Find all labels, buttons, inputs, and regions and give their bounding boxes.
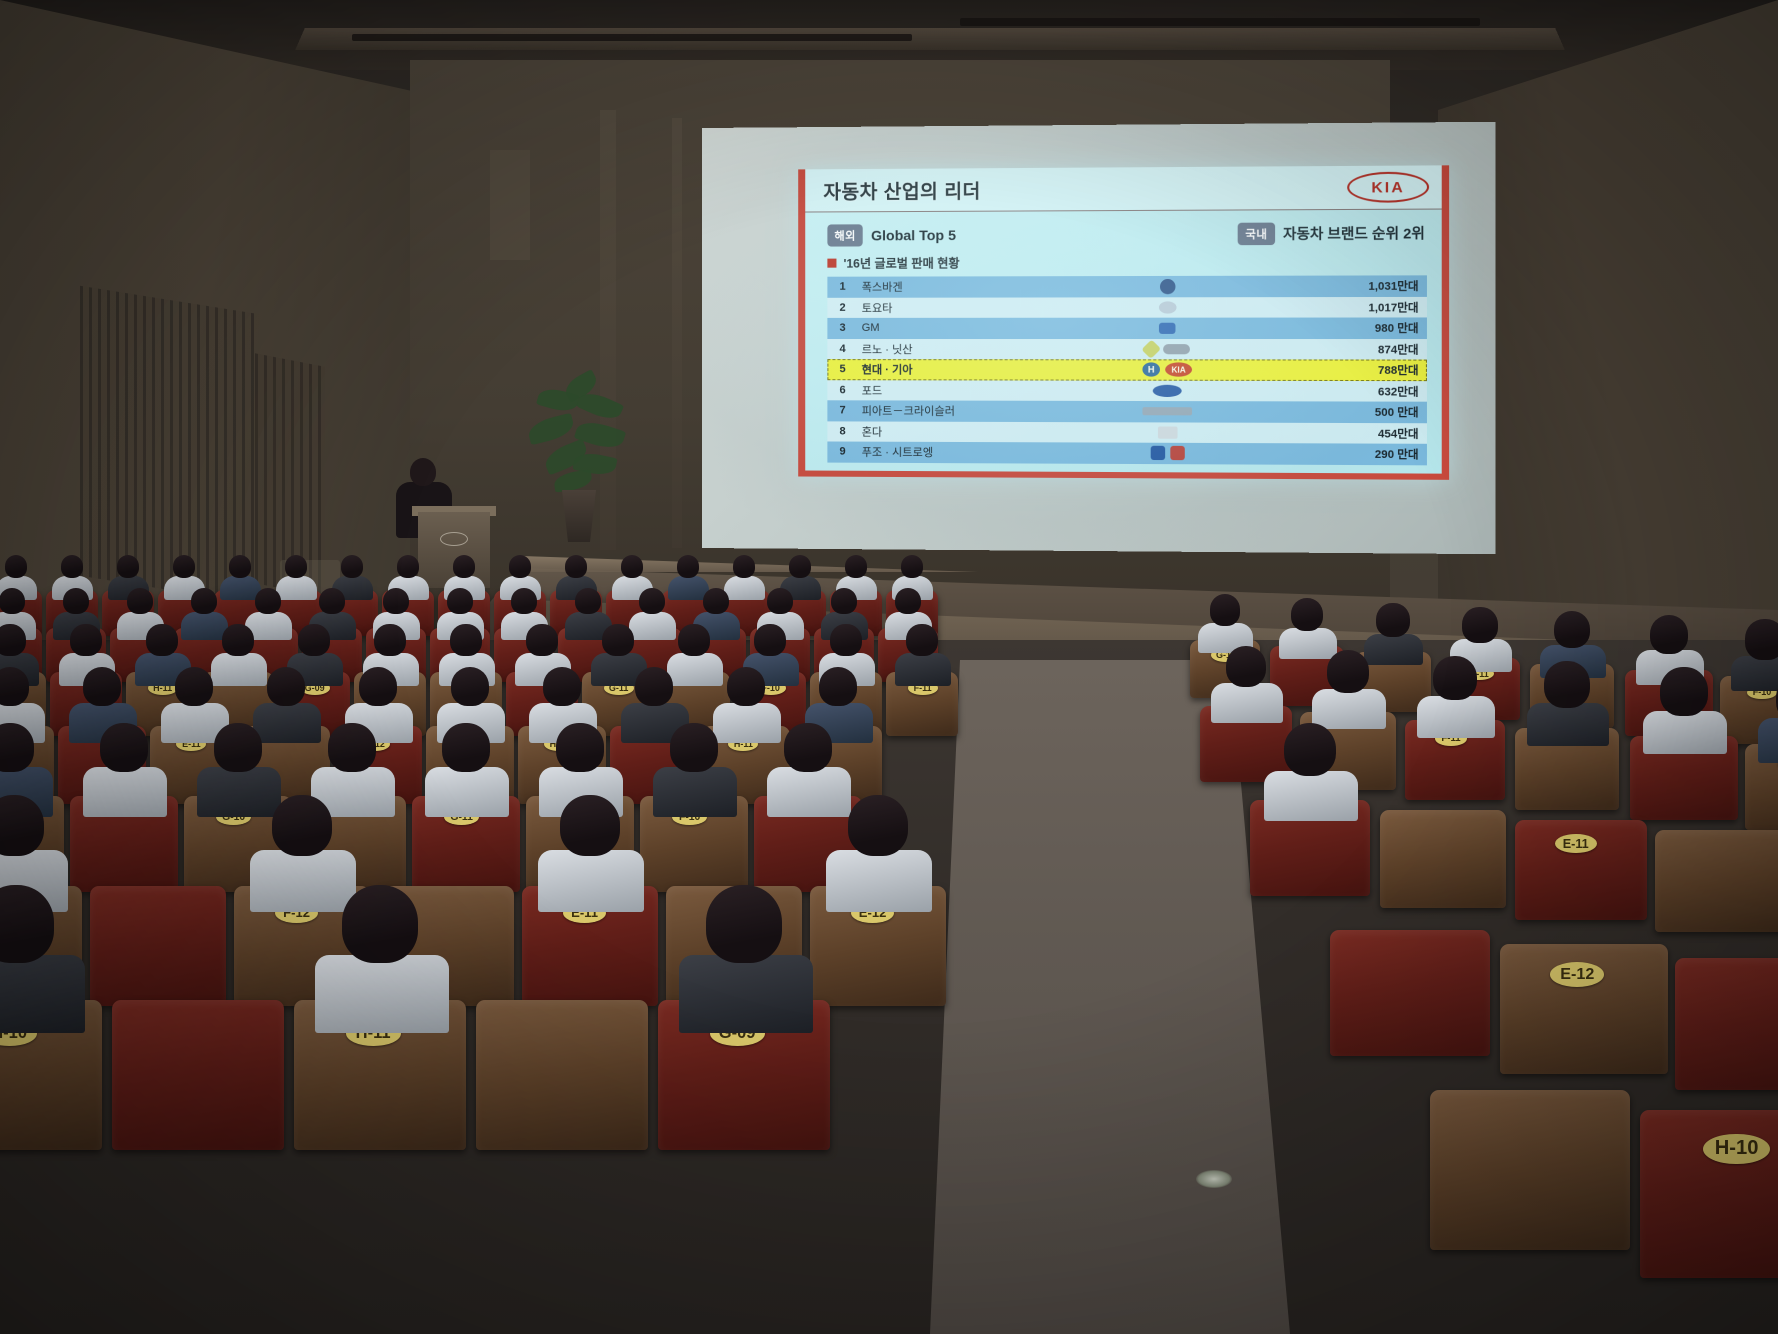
cell-rank: 5 [827,363,857,375]
table-row: 9푸조 · 시트로엥290 만대 [827,441,1427,464]
peugeot-citroen-logo [1150,446,1164,460]
audience-member-shoulders [629,612,676,640]
audience-member-head [1226,646,1266,687]
audience-member-shoulders [425,767,509,817]
audience-member-shoulders [250,850,356,912]
audience-member-shoulders [724,576,765,600]
audience-member-shoulders [1527,703,1608,746]
audience-member-head [173,555,196,578]
bullet-square-icon [827,259,836,268]
overseas-section: 해외 Global Top 5 [827,224,956,247]
audience-member-shoulders [1364,634,1423,665]
audience-member-head [267,667,306,706]
audience-member-head [214,723,262,771]
cell-toyota-logo [1014,301,1322,314]
audience-member-head [602,624,634,656]
audience-member-head [784,723,832,771]
table-row: 5현대 · 기아HKIA788만대 [827,359,1427,381]
cell-rank: 1 [827,281,857,293]
table-row: 7피아트－크라이슬러500 만대 [827,400,1427,422]
cell-peugeot-citroen-logo [1014,445,1322,461]
audience-member-shoulders [197,767,281,817]
audience-member-shoulders [211,653,267,686]
audience-member-head [901,555,924,578]
audience-member-head [1327,650,1369,693]
audience-member-shoulders [895,653,951,686]
overseas-label: Global Top 5 [871,227,956,243]
table-row: 8혼다454만대 [827,421,1427,444]
audience-member-head [451,667,490,706]
cell-sales-value: 454만대 [1322,425,1427,442]
audience-member-head [556,723,604,771]
audience-member-shoulders [1643,711,1727,755]
cell-sales-value: 500 만대 [1322,404,1427,421]
auditorium-seat[interactable] [112,1000,284,1150]
global-sales-table: 1폭스바겐1,031만대2토요타1,017만대3GM980 만대4르노 · 닛산… [827,275,1427,464]
audience-member-head [526,624,558,656]
cell-brand-name: 푸조 · 시트로엥 [858,444,1014,461]
audience-member-shoulders [1758,718,1778,763]
audience-member-head [621,555,644,578]
renault-nissan-logo [1163,344,1190,354]
audience-member-head [733,555,756,578]
audience-member-shoulders [181,612,228,640]
audience-member-head [5,555,28,578]
peugeot-citroen-logo [1170,446,1184,460]
cell-rank: 3 [827,322,857,334]
audience-member-head [511,588,537,615]
presenter-head [410,458,436,486]
volkswagen-logo [1159,279,1175,294]
cell-ford-logo [1014,384,1322,397]
cell-brand-name: 현대 · 기아 [858,361,1014,377]
audience-member-head [117,555,140,578]
audience-member-shoulders [1264,771,1358,821]
audience-member-head [229,555,252,578]
cell-fca-logo [1014,407,1322,416]
audience-member-head [635,667,674,706]
hyundai-kia-logo: KIA [1165,363,1192,377]
projected-slide: 자동차 산업의 리더 KIA 해외 Global Top 5 국내 자동차 브랜… [798,165,1449,480]
cell-brand-name: 피아트－크라이슬러 [858,403,1014,420]
cell-honda-logo [1014,426,1322,439]
audience-member-head [906,624,938,656]
cell-renault-nissan-logo [1014,342,1322,356]
cell-hyundai-kia-logo: HKIA [1014,363,1322,378]
audience-member-head [272,795,332,856]
auditorium-seat[interactable] [1430,1090,1630,1250]
cell-sales-value: 290 만대 [1322,446,1427,463]
audience-member-head [447,588,473,615]
table-heading-row: '16년 글로벌 판매 현황 [805,251,1441,275]
audience-member-head [61,555,84,578]
cell-sales-value: 1,031만대 [1322,278,1427,295]
potted-plant [520,372,640,500]
audience-member-head [1660,667,1708,715]
table-row: 4르노 · 닛산874만대 [827,339,1427,360]
aisle-floor-light [1196,1170,1232,1188]
audience-member-shoulders [713,703,782,744]
cell-sales-value: 874만대 [1322,341,1427,357]
cell-volkswagen-logo [1014,278,1322,294]
audience-member-head [319,588,345,615]
audience-member-shoulders [538,850,644,912]
audience-member-head [575,588,601,615]
audience-member-shoulders [679,955,813,1033]
cell-brand-name: 토요타 [858,299,1014,315]
cell-brand-name: GM [858,322,1014,334]
audience-member-shoulders [1731,656,1778,691]
auditorium-seat[interactable] [1330,930,1490,1056]
domestic-badge: 국내 [1238,223,1275,246]
audience-member-head [639,588,665,615]
gm-logo [1159,322,1176,333]
audience-member-shoulders [1211,683,1283,723]
audience-member-shoulders [767,767,851,817]
cell-brand-name: 혼다 [858,423,1014,440]
auditorium-photo: 자동차 산업의 리더 KIA 해외 Global Top 5 국내 자동차 브랜… [0,0,1778,1334]
domestic-label: 자동차 브랜드 순위 2위 [1283,223,1425,244]
audience-member-head [127,588,153,615]
audience-member-head [845,555,868,578]
table-heading: '16년 글로벌 판매 현황 [844,254,960,271]
audience-member-head [341,555,364,578]
audience-member-head [100,723,148,771]
audience-member-head [70,624,102,656]
audience-member-head [146,624,178,656]
ceiling-slot [960,18,1480,26]
wall-door-frame [490,150,530,260]
audience-member-shoulders [1417,696,1495,738]
audience-member-head [255,588,281,615]
audience-member-head [222,624,254,656]
cell-brand-name: 폭스바겐 [858,279,1014,295]
auditorium-seat[interactable] [1380,810,1506,908]
audience-member-head [383,588,409,615]
cell-rank: 7 [827,405,857,417]
audience-member-head [83,667,122,706]
audience-member-head [754,624,786,656]
cell-brand-name: 포드 [858,382,1014,398]
audience-member-head [0,588,25,615]
domestic-section: 국내 자동차 브랜드 순위 2위 [1238,222,1425,245]
audience-member-head [175,667,214,706]
audience-member-head [670,723,718,771]
audience-member-head [1376,603,1409,637]
seat-number-plate: E-12 [1550,962,1604,987]
auditorium-seat[interactable] [476,1000,648,1150]
hyundai-kia-logo: H [1142,363,1160,377]
cell-gm-logo [1014,322,1322,333]
audience-member-shoulders [276,576,317,600]
audience-member-head [767,588,793,615]
ceiling-slot [352,34,912,41]
table-row: 2토요타1,017만대 [827,296,1427,318]
audience-member-head [1462,607,1497,643]
audience-member-head [359,667,398,706]
table-row: 3GM980 만대 [827,317,1427,338]
audience-member-head [0,624,26,656]
table-row: 6포드632만대 [827,380,1427,402]
audience-member-head [1210,594,1241,625]
audience-member-head [298,624,330,656]
auditorium-seat[interactable] [1675,958,1778,1090]
audience-member-head [0,723,34,771]
slide-subheader: 해외 Global Top 5 국내 자동차 브랜드 순위 2위 [805,210,1441,253]
audience-member-head [1745,619,1778,659]
audience-member-head [1554,611,1591,649]
cell-sales-value: 788만대 [1322,362,1427,379]
audience-member-head [543,667,582,706]
cell-sales-value: 1,017만대 [1322,299,1427,316]
audience-member-head [565,555,588,578]
audience-member-head [374,624,406,656]
audience-member-head [830,624,862,656]
audience-member-head [895,588,921,615]
audience-member-shoulders [253,703,322,744]
audience-member-head [1433,656,1477,701]
kia-logo-icon: KIA [1347,172,1429,203]
kia-logo-text: KIA [1371,178,1404,196]
audience-member-head [63,588,89,615]
cell-rank: 4 [827,343,857,355]
audience-member-shoulders [1312,689,1387,730]
audience-member-head [678,624,710,656]
auditorium-seat[interactable] [90,886,226,1006]
audience-member-shoulders [83,767,167,817]
audience-member-head [285,555,308,578]
audience-member-shoulders [826,850,932,912]
audience-member-head [1284,723,1337,777]
honda-logo [1157,426,1177,438]
auditorium-seat[interactable] [1655,830,1778,932]
audience-member-head [397,555,420,578]
audience-member-head [1291,598,1324,631]
fca-logo [1142,407,1192,415]
audience-member-head [560,795,620,856]
audience-member-head [191,588,217,615]
audience-member-head [1650,615,1689,654]
slide-title: 자동차 산업의 리더 [823,176,980,204]
cell-sales-value: 980 만대 [1322,320,1427,336]
auditorium-seat[interactable] [1640,1110,1778,1278]
audience-member-head [1544,661,1590,708]
slide-title-bar: 자동차 산업의 리더 KIA [805,165,1441,212]
audience-member-shoulders [1279,628,1337,659]
audience-member-head [442,723,490,771]
audience-member-head [727,667,766,706]
audience-member-head [328,723,376,771]
cell-sales-value: 632만대 [1322,383,1427,400]
projection-screen: 자동차 산업의 리더 KIA 해외 Global Top 5 국내 자동차 브랜… [702,122,1496,554]
renault-nissan-logo [1141,339,1161,358]
audience-member-head [706,885,782,962]
audience-member-shoulders [653,767,737,817]
table-row: 1폭스바겐1,031만대 [827,275,1427,297]
podium-kia-logo-icon [440,532,468,546]
cell-rank: 9 [827,446,857,458]
audience-member-head [450,624,482,656]
cell-rank: 2 [827,302,857,314]
audience-member-head [703,588,729,615]
overseas-badge: 해외 [827,224,863,246]
audience-member-head [677,555,700,578]
audience-member-head [819,667,858,706]
audience-member-head [453,555,476,578]
audience-member-head [848,795,908,856]
ford-logo [1153,385,1182,397]
audience-member-shoulders [315,955,449,1033]
audience-member-shoulders [667,653,723,686]
cell-rank: 6 [827,384,857,396]
cell-rank: 8 [827,425,857,437]
audience-member-head [509,555,532,578]
audience-member-head [831,588,857,615]
audience-member-head [789,555,812,578]
toyota-logo [1158,301,1176,313]
audience-member-head [342,885,418,962]
wall-pilaster [672,118,682,548]
audience-member-shoulders [0,955,85,1033]
cell-brand-name: 르노 · 닛산 [858,341,1014,357]
